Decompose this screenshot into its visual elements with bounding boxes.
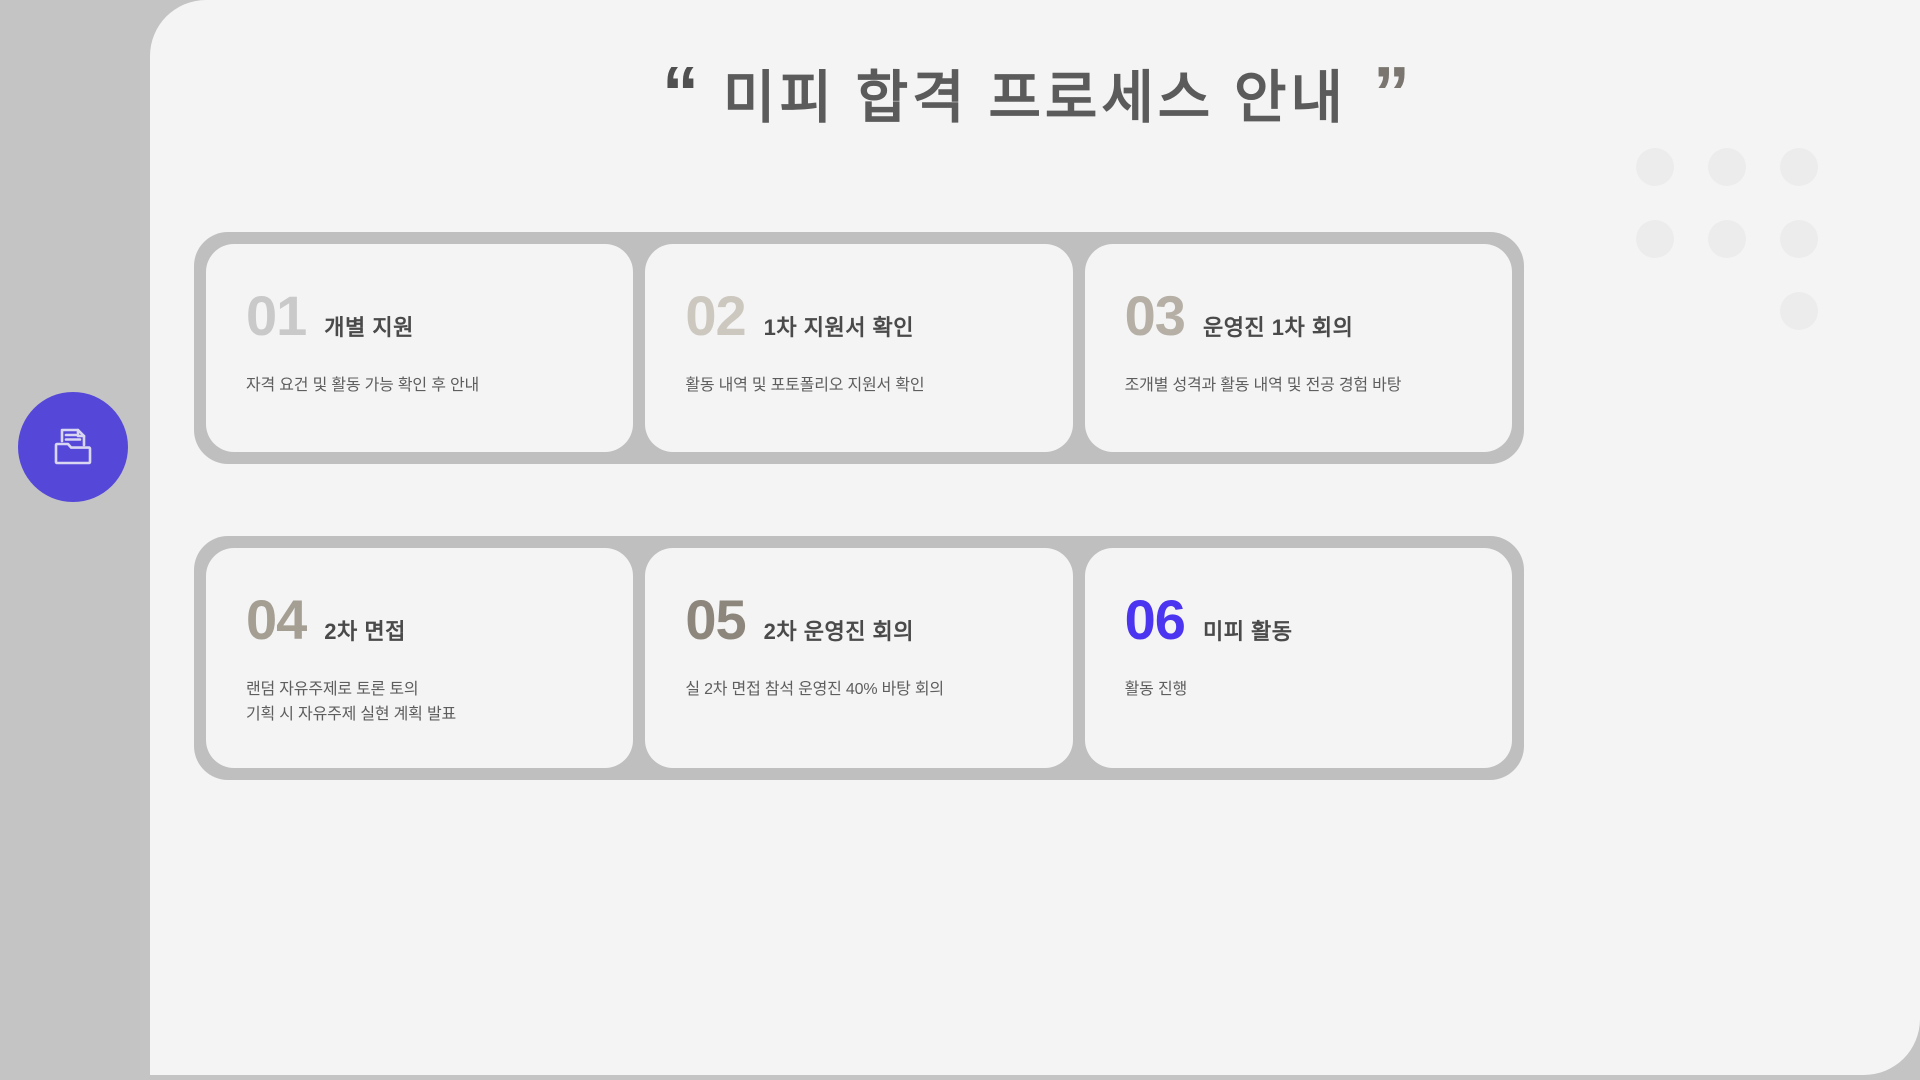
process-card-04[interactable]: 04 2차 면접 랜덤 자유주제로 토론 토의 기획 시 자유주제 실현 계획 …: [206, 548, 633, 768]
card-head: 04 2차 면접: [246, 592, 593, 648]
card-number: 01: [246, 288, 306, 344]
card-head: 01 개별 지원: [246, 288, 593, 344]
card-title: 2차 운영진 회의: [764, 614, 914, 646]
process-card-01[interactable]: 01 개별 지원 자격 요건 및 활동 가능 확인 후 안내: [206, 244, 633, 452]
decorative-dot-grid: [1636, 148, 1884, 358]
decor-dot: [1708, 148, 1746, 186]
card-number: 03: [1125, 288, 1185, 344]
card-head: 02 1차 지원서 확인: [685, 288, 1032, 344]
decor-dot: [1636, 220, 1674, 258]
process-card-06[interactable]: 06 미피 활동 활동 진행: [1085, 548, 1512, 768]
card-description-line: 실 2차 면접 참석 운영진 40% 바탕 회의: [685, 678, 1032, 703]
decor-dot: [1780, 292, 1818, 330]
card-title: 개별 지원: [324, 310, 414, 342]
card-title: 1차 지원서 확인: [764, 310, 914, 342]
decor-dot: [1780, 220, 1818, 258]
quote-close-icon: ”: [1373, 56, 1408, 130]
card-title: 2차 면접: [324, 614, 406, 646]
card-head: 03 운영진 1차 회의: [1125, 288, 1472, 344]
main-panel: “ 미피 합격 프로세스 안내 ” 01 개별 지원 자격 요건 및 활동 가능…: [150, 0, 1920, 1075]
card-description: 랜덤 자유주제로 토론 토의 기획 시 자유주제 실현 계획 발표: [246, 678, 593, 728]
card-number: 06: [1125, 592, 1185, 648]
card-head: 05 2차 운영진 회의: [685, 592, 1032, 648]
card-title: 미피 활동: [1203, 614, 1293, 646]
card-title: 운영진 1차 회의: [1203, 310, 1353, 342]
card-description: 활동 진행: [1125, 678, 1472, 703]
card-number: 02: [685, 288, 745, 344]
card-description-line: 자격 요건 및 활동 가능 확인 후 안내: [246, 374, 593, 399]
process-card-05[interactable]: 05 2차 운영진 회의 실 2차 면접 참석 운영진 40% 바탕 회의: [645, 548, 1072, 768]
card-description: 조개별 성격과 활동 내역 및 전공 경험 바탕: [1125, 374, 1472, 399]
card-description-line: 조개별 성격과 활동 내역 및 전공 경험 바탕: [1125, 374, 1472, 399]
card-description: 활동 내역 및 포토폴리오 지원서 확인: [685, 374, 1032, 399]
folder-document-icon: [47, 421, 99, 473]
card-description: 자격 요건 및 활동 가능 확인 후 안내: [246, 374, 593, 399]
card-description-line: 활동 내역 및 포토폴리오 지원서 확인: [685, 374, 1032, 399]
decor-dot: [1780, 148, 1818, 186]
page-title: 미피 합격 프로세스 안내: [723, 52, 1347, 134]
folder-badge[interactable]: [18, 392, 128, 502]
card-number: 05: [685, 592, 745, 648]
card-description: 실 2차 면접 참석 운영진 40% 바탕 회의: [685, 678, 1032, 703]
process-card-02[interactable]: 02 1차 지원서 확인 활동 내역 및 포토폴리오 지원서 확인: [645, 244, 1072, 452]
card-description-line: 기획 시 자유주제 실현 계획 발표: [246, 703, 593, 728]
card-description-line: 랜덤 자유주제로 토론 토의: [246, 678, 593, 703]
decor-dot: [1636, 148, 1674, 186]
process-row-1: 01 개별 지원 자격 요건 및 활동 가능 확인 후 안내 02 1차 지원서…: [194, 232, 1524, 464]
card-description-line: 활동 진행: [1125, 678, 1472, 703]
quote-open-icon: “: [662, 56, 697, 130]
process-card-03[interactable]: 03 운영진 1차 회의 조개별 성격과 활동 내역 및 전공 경험 바탕: [1085, 244, 1512, 452]
decor-dot: [1708, 220, 1746, 258]
card-head: 06 미피 활동: [1125, 592, 1472, 648]
process-rows: 01 개별 지원 자격 요건 및 활동 가능 확인 후 안내 02 1차 지원서…: [194, 232, 1524, 780]
page-title-row: “ 미피 합격 프로세스 안내 ”: [150, 52, 1920, 134]
card-number: 04: [246, 592, 306, 648]
process-row-2: 04 2차 면접 랜덤 자유주제로 토론 토의 기획 시 자유주제 실현 계획 …: [194, 536, 1524, 780]
